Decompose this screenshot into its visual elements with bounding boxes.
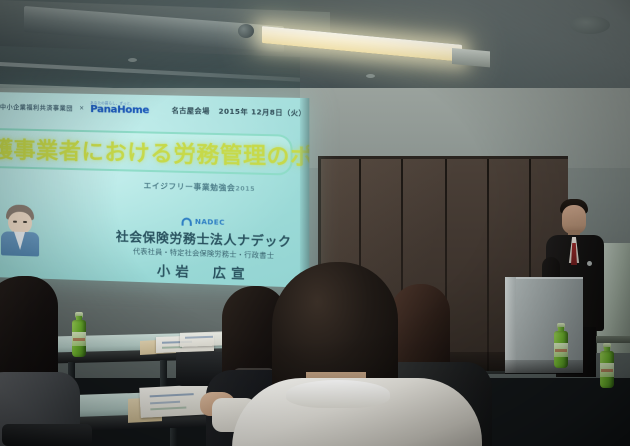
bottle-label-stripe: [601, 369, 613, 372]
presenter-name: 小岩 広宣: [111, 259, 297, 284]
podium: [505, 277, 583, 373]
ceiling-vent-icon: [570, 16, 610, 34]
mascot-eye: [13, 221, 17, 223]
panahome-logo: あなたの暮らし、ずっと。 PanaHome: [90, 102, 149, 117]
slide-organization-block: NADEC 社会保険労務士法人ナデック 代表社員・特定社会保険労務士・行政書士 …: [111, 215, 297, 284]
subtitle-year: 2015: [235, 185, 255, 193]
green-tea-bottle[interactable]: [600, 330, 618, 388]
slide-venue-date: 名古屋会場 2015年 12月8日（火）: [172, 105, 307, 118]
bottle-label-stripe: [73, 338, 85, 341]
ceiling-light-end-cap: [452, 48, 490, 67]
attendee-foreground-collar: [286, 380, 390, 408]
table-leg: [170, 428, 177, 446]
podium-shadow: [505, 360, 583, 374]
handout-text-line: [185, 336, 213, 339]
screen-right-edge: [300, 98, 309, 288]
mascot-eye: [23, 221, 27, 223]
slide-header: 中小企業福利共済事業団 × あなたの暮らし、ずっと。 PanaHome 名古屋会…: [0, 100, 299, 120]
panahome-wordmark: PanaHome: [90, 105, 149, 116]
slide-title-band: 護事業者における労務管理のポイント: [0, 128, 293, 176]
ceiling-light-fitting: [238, 24, 254, 38]
handout-text-line: [150, 401, 180, 405]
presenter-lapel-badge-icon: [587, 261, 592, 266]
projection-screen: 中小企業福利共済事業団 × あなたの暮らし、ずっと。 PanaHome 名古屋会…: [0, 92, 309, 288]
nadec-arch-icon: [182, 217, 192, 225]
subtitle-text: エイジフリー事業勉強会: [144, 181, 236, 193]
seminar-room-photo: 中小企業福利共済事業団 × あなたの暮らし、ずっと。 PanaHome 名古屋会…: [0, 0, 630, 446]
handout-text-line: [150, 406, 186, 410]
ceiling-fixture-dot: [128, 58, 137, 62]
handout-text-line: [150, 393, 194, 397]
partner-logo-text: 中小企業福利共済事業団: [0, 102, 73, 113]
podium-side-panel: [505, 277, 516, 373]
date-label: 2015年 12月8日（火）: [219, 107, 307, 117]
green-tea-bottle[interactable]: [554, 322, 568, 368]
venue-label: 名古屋会場: [172, 106, 210, 115]
handout-text-line: [162, 346, 182, 349]
chair-back: [2, 424, 92, 446]
slide-subtitle: エイジフリー事業勉強会2015: [144, 180, 256, 194]
wood-panel-seam: [487, 159, 489, 371]
nadec-wordmark: NADEC: [195, 218, 225, 227]
bottle-label-stripe: [555, 349, 567, 352]
ceiling-fixture-dot: [366, 74, 375, 78]
logo-separator: ×: [79, 105, 84, 112]
mascot-illustration-icon: [0, 204, 42, 257]
green-tea-bottle[interactable]: [72, 311, 86, 357]
slide-title: 護事業者における労務管理のポイント: [0, 132, 309, 174]
